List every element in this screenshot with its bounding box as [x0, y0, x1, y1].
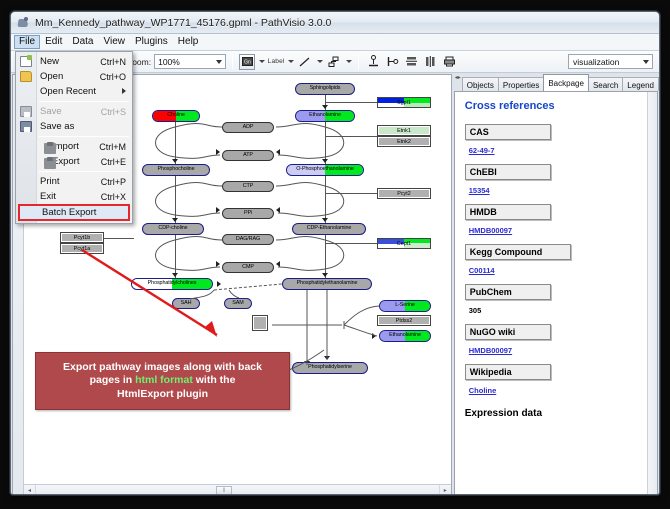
menu-item-print-accel: Ctrl+P	[101, 177, 126, 187]
callout-line-2-post: with the	[193, 374, 236, 386]
menu-item-new[interactable]: New Ctrl+N	[16, 54, 132, 69]
menu-item-save-as[interactable]: Save as	[16, 119, 132, 134]
node-cdp-ethanolamine[interactable]: CDP-Ethanolamine	[292, 223, 366, 235]
visualization-value: visualization	[573, 57, 619, 67]
arrowhead-icon	[216, 207, 220, 213]
node-sam[interactable]: SAM	[224, 298, 252, 309]
edge-to-pcyt2	[325, 193, 377, 194]
menu-bar: File Edit Data View Plugins Help	[11, 34, 659, 51]
edge-to-sgpl1	[325, 102, 377, 103]
print-icon[interactable]	[441, 54, 457, 70]
scroll-left-icon[interactable]: ◂	[24, 485, 36, 495]
xref-header-cas: CAS	[465, 124, 551, 140]
callout-line-2-pre: pages in	[90, 374, 136, 386]
window-title: Mm_Kennedy_pathway_WP1771_45176.gpml - P…	[35, 17, 331, 29]
node-gene-unlabeled[interactable]	[252, 315, 268, 331]
menu-item-exit-accel: Ctrl+X	[101, 192, 126, 202]
chevron-down-icon	[216, 60, 222, 64]
node-ethanolamine-bottom[interactable]: Ethanolamine	[379, 330, 431, 342]
datanode-tool-icon[interactable]: Gn	[239, 54, 255, 70]
import-icon	[44, 143, 56, 154]
node-sah[interactable]: SAH	[172, 298, 200, 309]
edge-cdpcholine-to-pc	[175, 235, 176, 278]
node-cmp[interactable]: CMP	[222, 262, 274, 273]
side-panel: ◂▸ Objects Properties Backpage Search Le…	[454, 74, 658, 495]
new-file-icon	[20, 56, 32, 67]
stack-vertical-icon[interactable]	[403, 54, 419, 70]
arrowhead-icon	[324, 356, 330, 360]
arrowhead-icon	[217, 281, 221, 287]
menu-data[interactable]: Data	[67, 35, 98, 49]
node-atp[interactable]: ATP	[222, 150, 274, 161]
annotation-callout: Export pathway images along with back pa…	[35, 352, 290, 410]
edge-to-etnk	[325, 136, 377, 137]
node-l-serine[interactable]: L-Serine	[379, 300, 431, 312]
xref-value-nugo-wiki[interactable]: HMDB00097	[469, 346, 512, 355]
menu-item-save-as-label: Save as	[40, 121, 74, 132]
align-left-icon[interactable]	[384, 54, 400, 70]
file-menu-dropdown[interactable]: New Ctrl+N Open Ctrl+O Open Recent Save …	[15, 51, 133, 224]
tab-scroll-icon[interactable]: ◂▸	[455, 76, 461, 81]
tab-legend[interactable]: Legend	[622, 77, 659, 91]
arrowhead-icon	[322, 218, 328, 222]
arrowhead-icon	[172, 218, 178, 222]
menu-item-save[interactable]: Save Ctrl+S	[16, 104, 132, 119]
align-top-icon[interactable]	[365, 54, 381, 70]
node-choline[interactable]: Choline	[152, 110, 200, 122]
node-adp[interactable]: ADP	[222, 122, 274, 133]
xref-header-wikipedia: Wikipedia	[465, 364, 551, 380]
menu-help[interactable]: Help	[173, 35, 204, 49]
expression-data-heading: Expression data	[465, 408, 657, 419]
callout-line-1: Export pathway images along with back	[63, 361, 262, 373]
menu-item-print[interactable]: Print Ctrl+P	[16, 174, 132, 189]
node-gene-etnk2[interactable]: Etnk2	[377, 136, 431, 147]
node-phosphatidylserine[interactable]: Phosphatidylserine	[292, 362, 368, 374]
xref-value-hmdb[interactable]: HMDB00097	[469, 226, 512, 235]
tab-search[interactable]: Search	[588, 77, 623, 91]
edge-cdpethanolamine-to-pe	[325, 235, 326, 278]
menu-item-batch-export-label: Batch Export	[42, 207, 96, 218]
arrowhead-icon	[372, 333, 376, 339]
open-folder-icon	[20, 71, 32, 82]
node-phosphocholine[interactable]: Phosphocholine	[142, 164, 210, 176]
menu-item-open[interactable]: Open Ctrl+O	[16, 69, 132, 84]
menu-item-export-accel: Ctrl+E	[101, 157, 126, 167]
menu-item-exit-label: Exit	[40, 191, 56, 202]
backpage-content: Cross references CAS 62-49-7 ChEBI 15354…	[454, 91, 658, 495]
save-icon	[20, 106, 32, 117]
menu-file[interactable]: File	[14, 35, 40, 49]
node-ethanolamine-top[interactable]: Ethanolamine	[295, 110, 355, 122]
xref-header-chebi: ChEBI	[465, 164, 551, 180]
arrowhead-icon	[322, 105, 328, 109]
node-phosphatidylethanolamine[interactable]: Phosphatidylethanolamine	[282, 278, 372, 290]
stack-horizontal-icon[interactable]	[422, 54, 438, 70]
callout-highlight: html format	[135, 374, 193, 386]
menu-item-open-recent[interactable]: Open Recent	[16, 84, 132, 99]
scroll-thumb[interactable]: ‖	[216, 486, 232, 495]
arrowhead-icon	[216, 261, 220, 267]
label-dropdown-caret-icon[interactable]	[288, 60, 294, 63]
save-as-icon	[20, 121, 32, 132]
node-gene-etnk1[interactable]: Etnk1	[377, 125, 431, 136]
menu-item-open-label: Open	[40, 71, 63, 82]
node-gene-pcyt2[interactable]: Pcyt2	[377, 188, 431, 199]
arrowhead-icon	[276, 261, 280, 267]
node-phosphatidylcholines[interactable]: Phosphatidylcholines	[131, 278, 213, 290]
chevron-down-icon	[643, 60, 649, 64]
tab-properties[interactable]: Properties	[498, 77, 544, 91]
arrowhead-icon	[322, 273, 328, 277]
tab-objects[interactable]: Objects	[462, 77, 499, 91]
xref-header-hmdb: HMDB	[465, 204, 551, 220]
edge-ophospho-to-cdpethanolamine	[325, 176, 326, 223]
arrowhead-icon	[322, 159, 328, 163]
menu-item-save-label: Save	[40, 106, 62, 117]
menu-item-new-label: New	[40, 56, 59, 67]
arrowhead-icon	[216, 149, 220, 155]
menu-item-export[interactable]: Export Ctrl+E	[16, 154, 132, 169]
xref-header-kegg-compound: Kegg Compound	[465, 244, 571, 260]
zoom-combo[interactable]: 100%	[154, 54, 226, 69]
edge-phosphocholine-to-cdpcholine	[175, 176, 176, 223]
arrowhead-icon	[276, 207, 280, 213]
node-ppi[interactable]: PPi	[222, 208, 274, 219]
xref-value-chebi[interactable]: 15354	[469, 186, 490, 195]
screenshot-root: Mm_Kennedy_pathway_WP1771_45176.gpml - P…	[0, 0, 670, 509]
canvas-horizontal-scrollbar[interactable]: ◂ ‖ ▸	[24, 484, 451, 495]
export-icon	[44, 158, 56, 169]
node-cdp-choline[interactable]: CDP-choline	[142, 223, 204, 235]
node-gene-pcyt1a[interactable]: Pcyt1a	[60, 243, 104, 254]
label-tool[interactable]: Label	[268, 54, 284, 70]
tab-backpage[interactable]: Backpage	[543, 74, 589, 91]
xref-value-kegg-compound[interactable]: C00114	[469, 266, 495, 275]
node-sphingolipids[interactable]: Sphingolipids	[295, 83, 355, 95]
menu-item-exit[interactable]: Exit Ctrl+X	[16, 189, 132, 204]
menu-item-new-accel: Ctrl+N	[100, 57, 126, 67]
menu-separator	[39, 171, 129, 172]
toolbar-separator	[232, 54, 233, 69]
shape-tool-icon[interactable]	[326, 54, 342, 70]
cross-references-title: Cross references	[465, 100, 657, 112]
arrowhead-icon	[172, 273, 178, 277]
node-gene-cept1[interactable]: Cept1	[377, 238, 431, 249]
arrowhead-icon	[172, 159, 178, 163]
node-gene-ptdss2[interactable]: Ptdss2	[377, 315, 431, 326]
node-o-phosphoethanolamine[interactable]: O-Phosphoethanolamine	[286, 164, 364, 176]
visualization-combo[interactable]: visualization	[568, 54, 653, 69]
zoom-value: 100%	[158, 57, 180, 67]
application-window: Mm_Kennedy_pathway_WP1771_45176.gpml - P…	[10, 11, 660, 495]
xref-value-wikipedia[interactable]: Choline	[469, 386, 497, 395]
menu-plugins[interactable]: Plugins	[130, 35, 173, 49]
line-tool-icon[interactable]	[297, 54, 313, 70]
svg-text:Gn: Gn	[244, 60, 251, 66]
node-dag-rag[interactable]: DAG/RAG	[222, 234, 274, 245]
menu-separator	[39, 136, 129, 137]
edge-to-pcyt1	[104, 238, 134, 239]
menu-item-open-recent-label: Open Recent	[40, 86, 96, 97]
node-ctp[interactable]: CTP	[222, 181, 274, 192]
xref-value-pubchem: 305	[469, 306, 482, 315]
xref-header-pubchem: PubChem	[465, 284, 551, 300]
menu-view[interactable]: View	[98, 35, 130, 49]
pathvisio-icon	[17, 16, 30, 29]
menu-item-batch-export[interactable]: Batch Export	[18, 204, 130, 221]
node-gene-pcyt1b[interactable]: Pcyt1b	[60, 232, 104, 243]
menu-item-import-label: Import	[52, 141, 79, 152]
datanode-dropdown-caret-icon[interactable]	[259, 60, 265, 63]
scroll-right-icon[interactable]: ▸	[439, 485, 451, 495]
toolbar-separator-2	[358, 54, 359, 69]
line-dropdown-caret-icon[interactable]	[317, 60, 323, 63]
menu-item-import-accel: Ctrl+M	[99, 142, 126, 152]
submenu-arrow-icon	[122, 88, 126, 94]
backpage-scrollbar[interactable]	[647, 92, 657, 495]
shape-dropdown-caret-icon[interactable]	[346, 60, 352, 63]
menu-item-print-label: Print	[40, 176, 60, 187]
edge-to-cept1	[325, 243, 377, 244]
menu-item-export-label: Export	[52, 156, 79, 167]
menu-item-open-accel: Ctrl+O	[100, 72, 126, 82]
edge-choline-to-phosphocholine	[175, 122, 176, 164]
menu-item-import[interactable]: Import Ctrl+M	[16, 139, 132, 154]
callout-line-3: HtmlExport plugin	[117, 388, 208, 400]
node-gene-sgpl1[interactable]: Sgpl1	[377, 97, 431, 108]
menu-item-save-accel: Ctrl+S	[101, 107, 126, 117]
menu-separator	[39, 101, 129, 102]
menu-edit[interactable]: Edit	[40, 35, 67, 49]
xref-value-cas[interactable]: 62-49-7	[469, 146, 495, 155]
arrowhead-icon	[276, 149, 280, 155]
edge-ethanolamine-to-ophospho	[325, 122, 326, 164]
title-bar: Mm_Kennedy_pathway_WP1771_45176.gpml - P…	[11, 12, 659, 34]
xref-header-nugo-wiki: NuGO wiki	[465, 324, 551, 340]
side-panel-tabs: ◂▸ Objects Properties Backpage Search Le…	[454, 74, 658, 91]
